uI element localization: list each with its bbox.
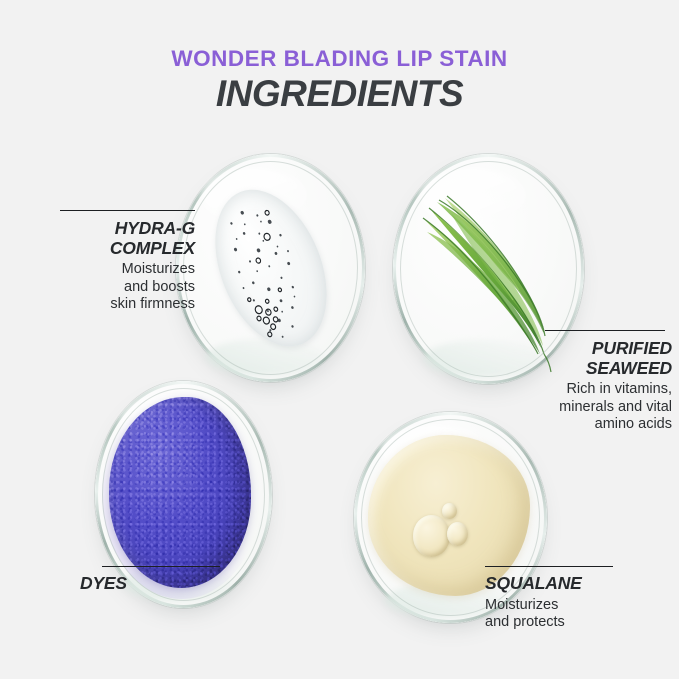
ingredient-title: DYES — [80, 574, 220, 594]
ingredient-title: HYDRA-G COMPLEX — [20, 219, 195, 258]
ingredient-desc-line1: Moisturizes — [485, 597, 635, 615]
leader-line — [60, 210, 195, 211]
ingredient-title-line2: COMPLEX — [20, 239, 195, 259]
ingredient-title-line1: SQUALANE — [485, 574, 635, 594]
ingredient-title-line1: PURIFIED — [520, 339, 672, 359]
ingredient-desc-line2: and boosts — [20, 279, 195, 297]
leader-line — [545, 330, 665, 331]
ingredient-title-line1: DYES — [80, 574, 220, 594]
ingredient-title-line1: HYDRA-G — [20, 219, 195, 239]
ingredient-description: Moisturizes and boosts skin firmness — [20, 261, 195, 314]
ingredient-desc-line1: Moisturizes — [20, 261, 195, 279]
oil-droplet-medium — [447, 522, 468, 546]
gel-blob-swatch — [194, 173, 348, 363]
ingredient-desc-line3: skin firmness — [20, 296, 195, 314]
callout-hydra-g-complex: HYDRA-G COMPLEX Moisturizes and boosts s… — [20, 210, 195, 314]
callout-purified-seaweed: PURIFIED SEAWEED Rich in vitamins, miner… — [520, 330, 672, 434]
callout-dyes: DYES — [80, 566, 220, 594]
ingredient-title-line2: SEAWEED — [520, 359, 672, 379]
oil-droplet-small — [442, 503, 457, 519]
leader-line — [485, 566, 613, 567]
ingredient-description: Rich in vitamins, minerals and vital ami… — [520, 381, 672, 434]
ingredient-title: SQUALANE — [485, 574, 635, 594]
ingredient-desc-line2: and protects — [485, 614, 635, 632]
ingredient-desc-line2: minerals and vital — [520, 399, 672, 417]
ingredient-desc-line3: amino acids — [520, 416, 672, 434]
gel-bubbles-icon — [194, 173, 348, 363]
oil-droplet-large — [413, 515, 450, 557]
powder-texture — [109, 397, 251, 588]
infographic-canvas: WONDER BLADING LIP STAIN INGREDIENTS — [0, 0, 679, 679]
callout-squalane: SQUALANE Moisturizes and protects — [485, 566, 635, 632]
petri-dish-hydra-g-complex — [176, 154, 365, 382]
brand-title: WONDER BLADING LIP STAIN — [0, 46, 679, 72]
ingredient-title: PURIFIED SEAWEED — [520, 339, 672, 378]
blue-dye-powder-swatch — [109, 397, 251, 588]
ingredient-description: Moisturizes and protects — [485, 597, 635, 632]
page-title: INGREDIENTS — [0, 73, 679, 115]
leader-line — [102, 566, 220, 567]
ingredient-desc-line1: Rich in vitamins, — [520, 381, 672, 399]
